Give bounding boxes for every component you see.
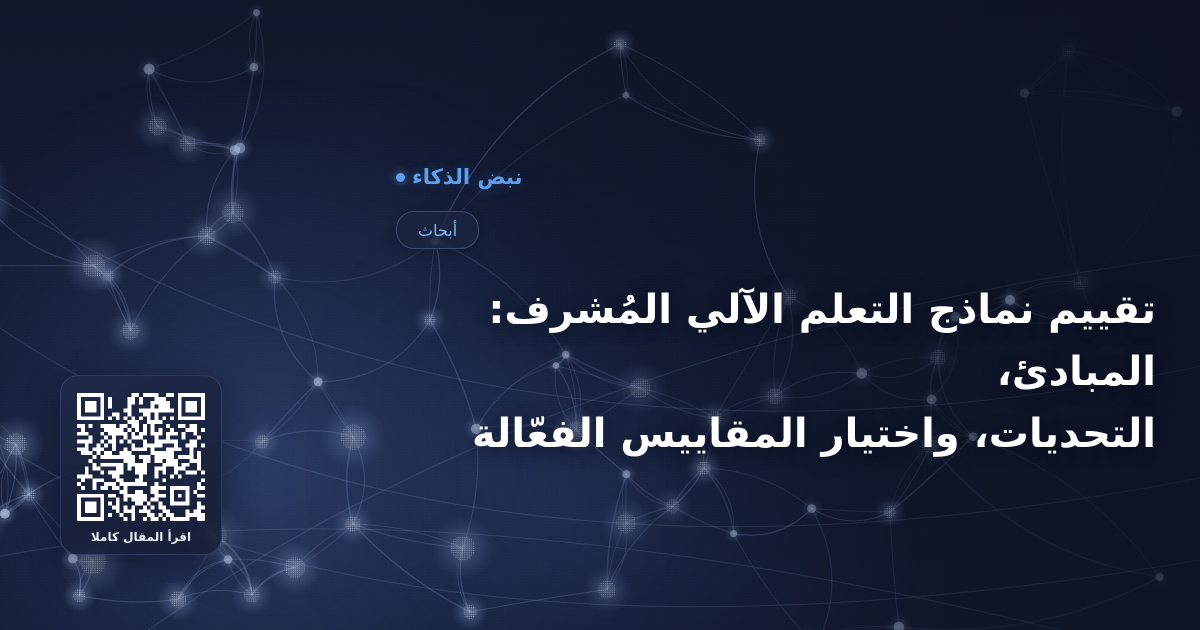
page-title: تقييم نماذج التعلم الآلي المُشرف: المباد… [396,279,1156,465]
brand-dot-icon [396,173,405,182]
page-title-line-2: التحديات، واختيار المقاييس الفعّالة [396,403,1156,465]
qr-code-icon[interactable] [77,393,205,521]
page-title-line-1: تقييم نماذج التعلم الآلي المُشرف: المباد… [396,279,1156,403]
brand-name: نبض الذكاء [412,165,522,189]
qr-caption: اقرأ المقال كاملا [91,530,191,544]
brand-lockup: نبض الذكاء [396,165,522,189]
content-column: نبض الذكاء أبحاث تقييم نماذج التعلم الآل… [396,0,1156,630]
og-share-card: نبض الذكاء أبحاث تقييم نماذج التعلم الآل… [0,0,1200,630]
qr-cta-card[interactable]: اقرأ المقال كاملا [60,375,222,555]
category-badge[interactable]: أبحاث [396,211,479,249]
